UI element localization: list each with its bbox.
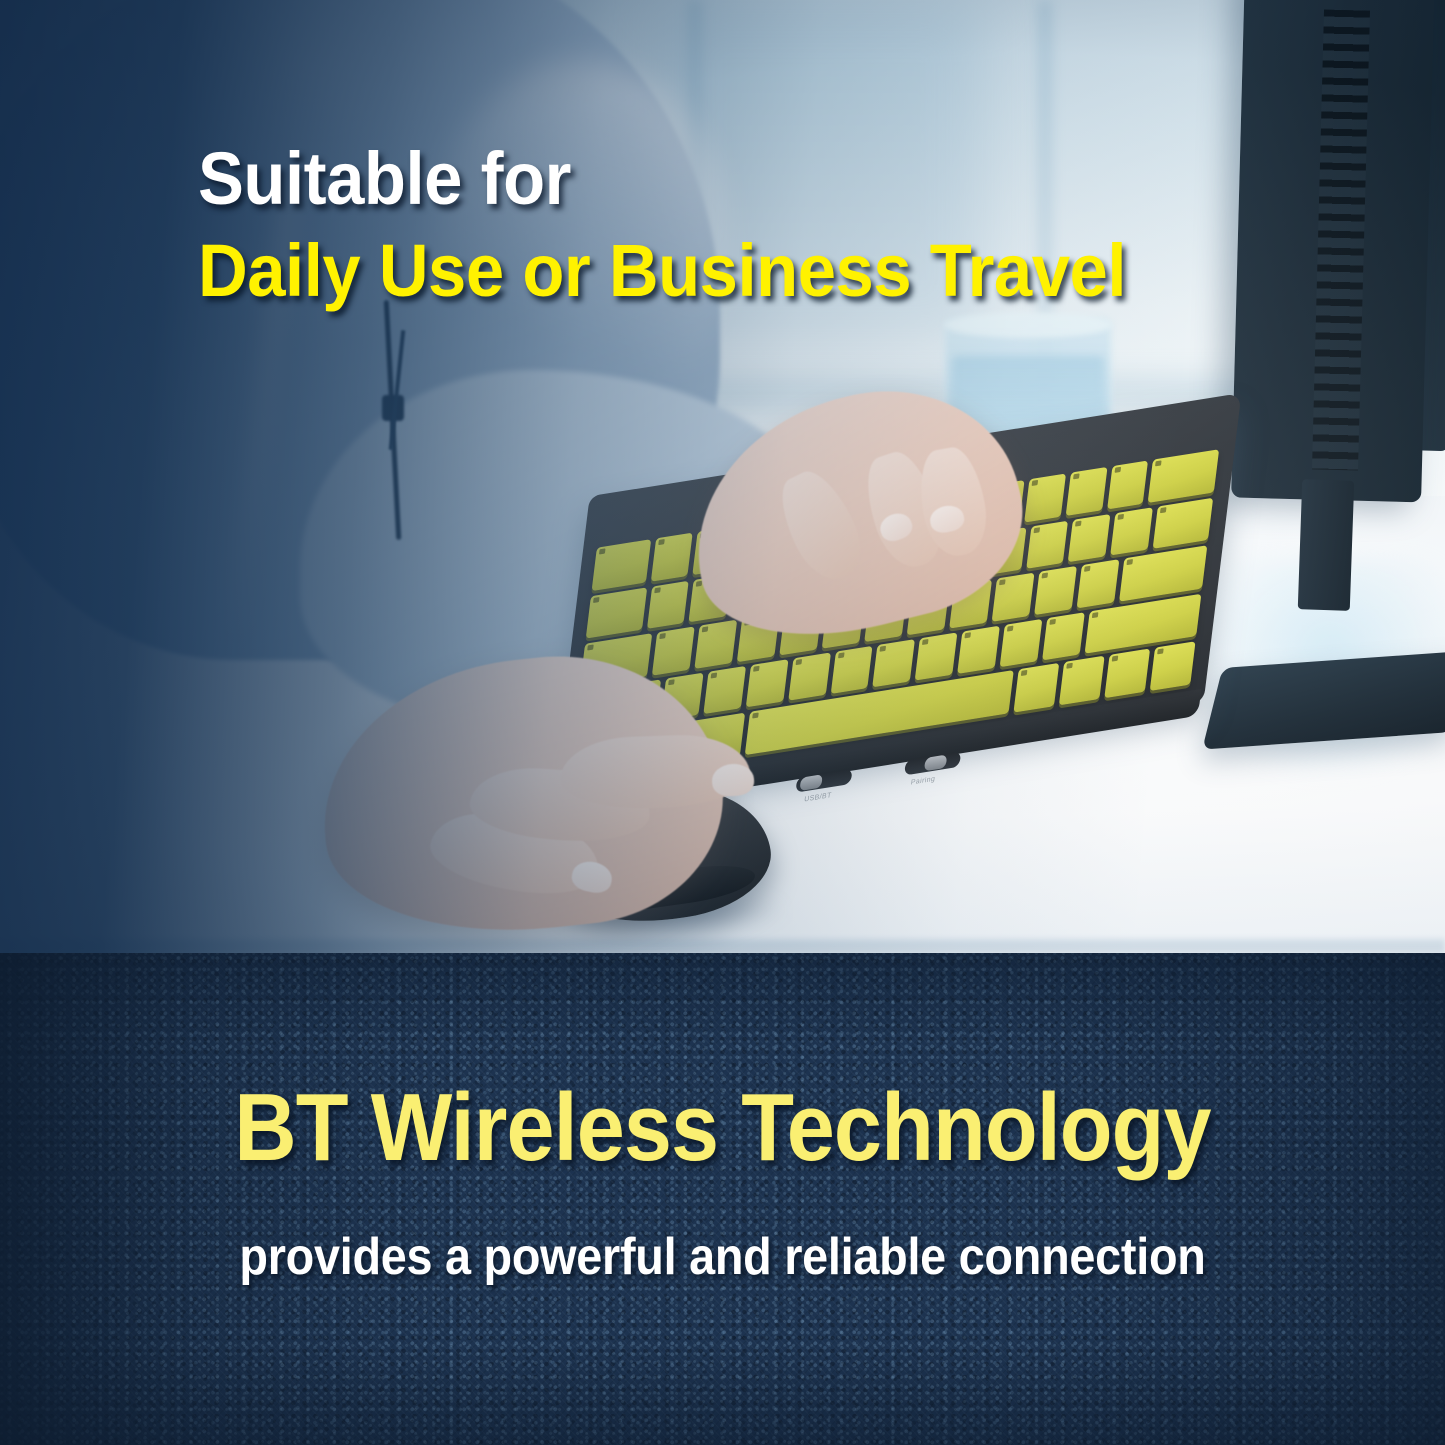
headline-line-1: Suitable for xyxy=(198,142,1126,216)
bottom-subtext: provides a powerful and reliable connect… xyxy=(72,1227,1373,1287)
bottom-headline: BT Wireless Technology xyxy=(72,1073,1373,1183)
bottom-feature-panel: BT Wireless Technology provides a powerf… xyxy=(0,953,1445,1445)
usb-bt-switch-label: USB/BT xyxy=(804,792,832,804)
bottom-text-block: BT Wireless Technology provides a powerf… xyxy=(0,953,1445,1287)
headline-line-2: Daily Use or Business Travel xyxy=(198,234,1126,308)
pairing-switch-label: Pairing xyxy=(910,776,935,787)
desk-edge xyxy=(0,939,1445,953)
product-marketing-banner: ANT ESPORTS xyxy=(0,0,1445,1445)
monitor-neck xyxy=(1298,479,1355,611)
water-glass-rim xyxy=(944,312,1112,338)
product-photo-panel: ANT ESPORTS xyxy=(0,0,1445,953)
top-headline: Suitable for Daily Use or Business Trave… xyxy=(198,142,1196,308)
